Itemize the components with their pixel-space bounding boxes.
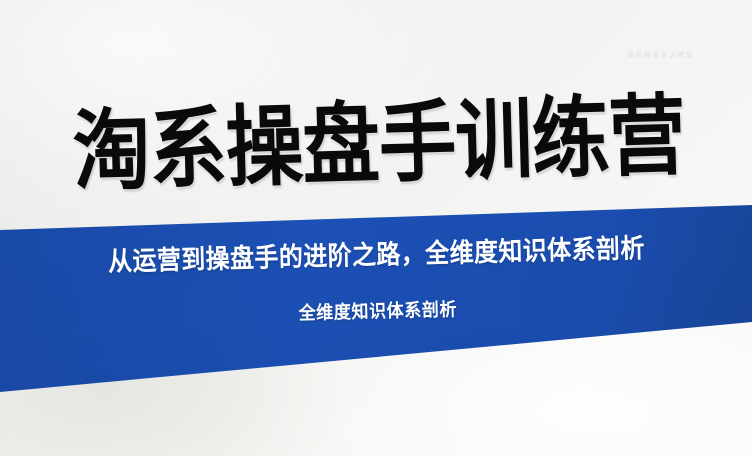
poster-canvas: 淘系操盘手训练营 淘系操盘手训练营 从运营到操盘手的进阶之路，全维度知识体系剖析… [0, 0, 752, 456]
subtitle-container: 从运营到操盘手的进阶之路，全维度知识体系剖析 全维度知识体系剖析 [0, 228, 752, 333]
watermark-text: 淘系操盘手训练营 [627, 50, 694, 60]
headline-container: 淘系操盘手训练营 [0, 82, 752, 220]
poster-headline: 淘系操盘手训练营 [66, 75, 691, 212]
